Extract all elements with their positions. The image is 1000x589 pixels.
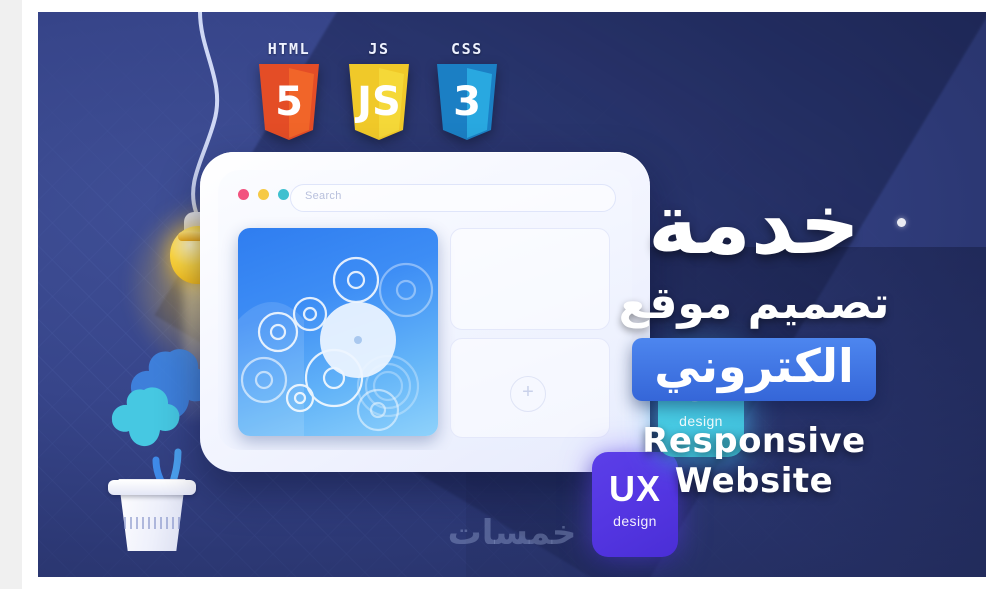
window-control-dots — [238, 189, 289, 200]
html5-shield-icon: 5 — [255, 62, 323, 144]
gears-hero-panel — [238, 228, 438, 436]
close-dot-icon[interactable] — [238, 189, 249, 200]
search-placeholder: Search — [305, 190, 342, 202]
left-margin-strip — [0, 0, 22, 589]
javascript-glyph: JS — [345, 82, 413, 122]
css3-badge: CSS 3 — [431, 40, 503, 144]
add-button[interactable]: + — [510, 376, 546, 412]
javascript-label: JS — [343, 40, 415, 58]
headline-line-1: خدمة — [564, 182, 944, 266]
plant-pot-rim — [108, 480, 196, 495]
tech-badge-group: HTML 5 JS JS — [253, 40, 513, 158]
watermark: خمسات — [38, 513, 986, 553]
screenshot-root: HTML 5 JS JS — [0, 0, 1000, 589]
headline-block: خدمة تصميم موقع الكتروني Responsive Webs… — [564, 182, 944, 501]
css3-shield-icon: 3 — [433, 62, 501, 144]
maximize-dot-icon[interactable] — [278, 189, 289, 200]
javascript-badge: JS JS — [343, 40, 415, 144]
html5-badge: HTML 5 — [253, 40, 325, 144]
javascript-shield-icon: JS — [345, 62, 413, 144]
html5-glyph: 5 — [255, 82, 323, 122]
minimize-dot-icon[interactable] — [258, 189, 269, 200]
css3-glyph: 3 — [433, 82, 501, 122]
headline-line-4: Responsive Website — [564, 421, 944, 501]
gears-illustration — [238, 228, 438, 436]
headline-line-2: تصميم موقع — [564, 280, 944, 328]
service-banner: HTML 5 JS JS — [38, 12, 986, 577]
css3-label: CSS — [431, 40, 503, 58]
headline-line-3-highlight: الكتروني — [632, 338, 876, 401]
page-content: + — [238, 228, 616, 436]
html5-label: HTML — [253, 40, 325, 58]
